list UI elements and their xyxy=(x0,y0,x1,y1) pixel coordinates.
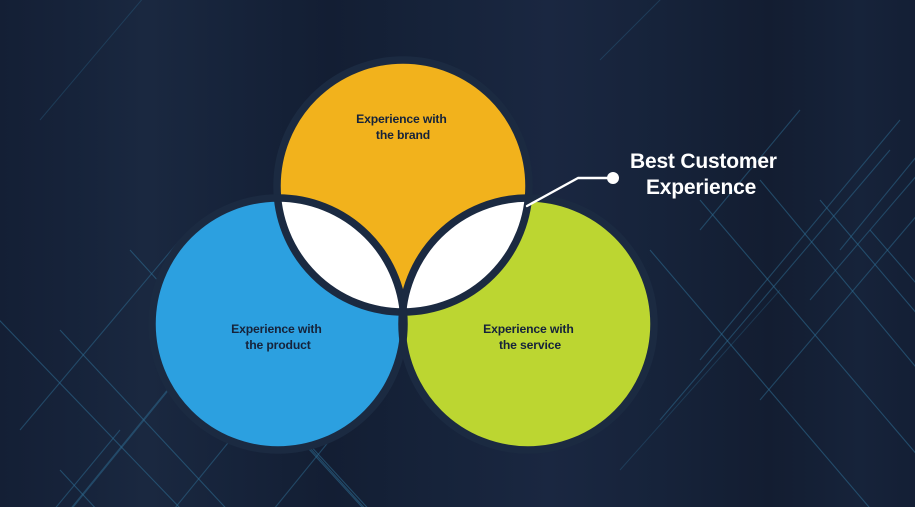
label-brand-line1: Experience with xyxy=(356,112,447,126)
callout-best-customer-experience: Best Customer Experience xyxy=(630,149,880,200)
label-product-line1: Experience with xyxy=(231,322,322,336)
callout-line2: Experience xyxy=(630,175,880,201)
callout-leader-dot xyxy=(607,172,619,184)
callout-line1: Best Customer xyxy=(630,149,880,175)
slide-canvas: Experience with the brand Experience wit… xyxy=(0,0,915,507)
label-service-line1: Experience with xyxy=(483,322,574,336)
label-product-line2: the product xyxy=(245,338,310,352)
label-brand-line2: the brand xyxy=(376,128,430,142)
label-service-line2: the service xyxy=(499,338,561,352)
venn-diagram: Experience with the brand Experience wit… xyxy=(0,0,915,507)
